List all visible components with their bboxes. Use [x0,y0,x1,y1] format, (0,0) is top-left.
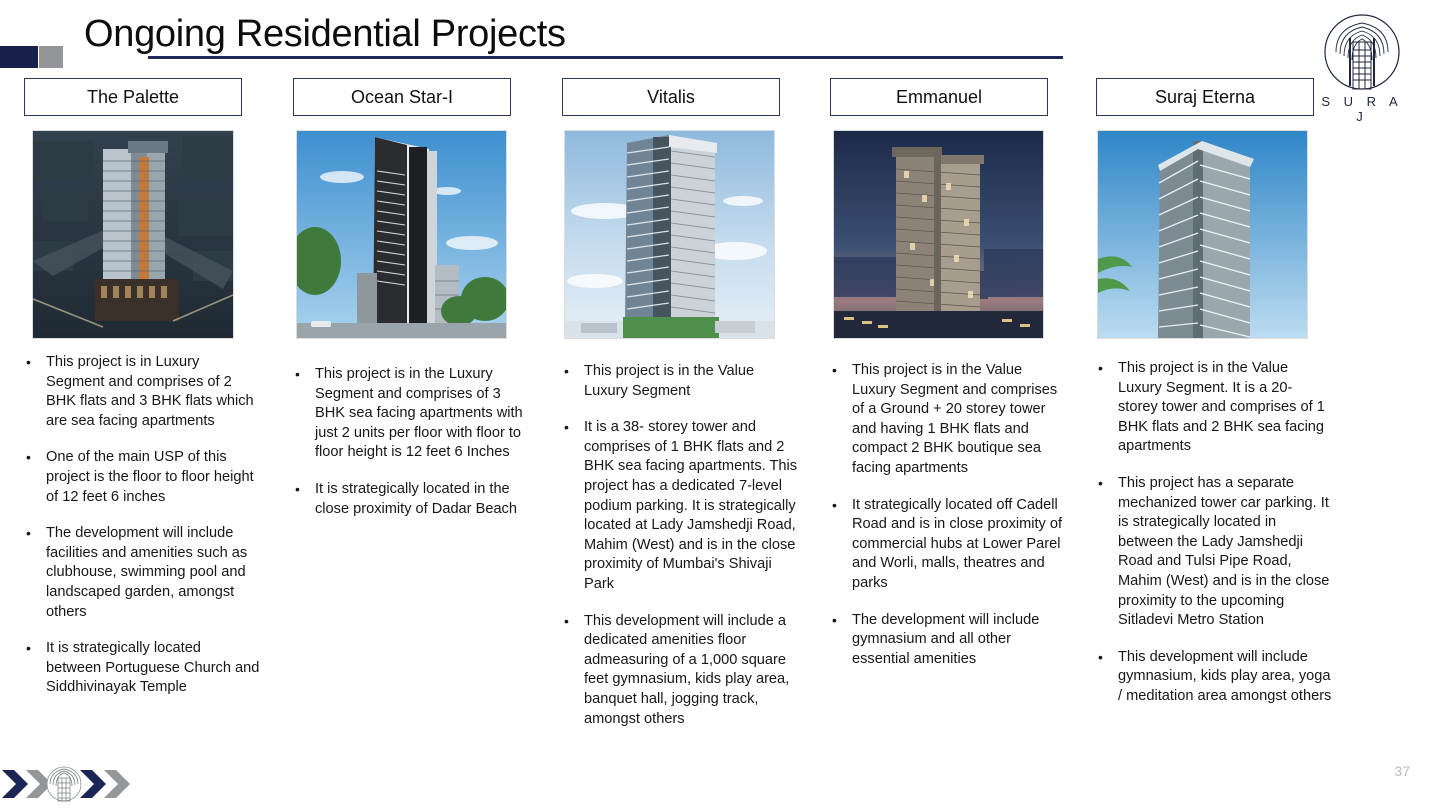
bullet-dot-icon: • [24,639,46,698]
project-header-vitalis[interactable]: Vitalis [562,78,780,116]
project-image-suraj-eterna [1097,130,1308,339]
chevrons-with-emblem-icon [0,762,140,806]
bullet-dot-icon: • [24,448,46,507]
list-item: •This project is in the Value Luxury Seg… [562,362,798,401]
bullet-dot-icon: • [1096,359,1118,457]
project-image-ocean-star-i [296,130,507,339]
project-column-suraj-eterna: Suraj Eterna [1096,78,1314,724]
list-item: •This project is in the Value Luxury Seg… [1096,359,1332,457]
bullet-dot-icon: • [830,611,852,670]
project-column-ocean-star-i: Ocean Star-I [293,78,511,536]
bullet-dot-icon: • [24,353,46,431]
list-item: •The development will include facilities… [24,524,260,622]
project-image-the-palette [32,130,234,339]
title-accent-square-gray [39,46,63,68]
bullet-dot-icon: • [830,496,852,594]
bullet-dot-icon: • [562,612,584,730]
list-item: •It strategically located off Cadell Roa… [830,496,1066,594]
project-bullets-the-palette: •This project is in Luxury Segment and c… [24,353,260,698]
bullet-dot-icon: • [1096,474,1118,631]
list-item: •It is strategically located between Por… [24,639,260,698]
list-item: •The development will include gymnasium … [830,611,1066,670]
suraj-tower-emblem-icon [1322,12,1402,92]
list-item: •One of the main USP of this project is … [24,448,260,507]
project-header-suraj-eterna[interactable]: Suraj Eterna [1096,78,1314,116]
bullet-dot-icon: • [1096,648,1118,707]
project-column-the-palette: The Palette [24,78,242,715]
bullet-dot-icon: • [830,361,852,479]
bullet-dot-icon: • [293,480,315,519]
project-header-the-palette[interactable]: The Palette [24,78,242,116]
list-item: •This project has a separate mechanized … [1096,474,1332,631]
page-title: Ongoing Residential Projects [84,10,566,58]
bullet-dot-icon: • [562,362,584,401]
list-item: •This development will include a dedicat… [562,612,798,730]
project-bullets-ocean-star-i: •This project is in the Luxury Segment a… [293,365,529,519]
project-header-emmanuel[interactable]: Emmanuel [830,78,1048,116]
list-item: •This project is in the Luxury Segment a… [293,365,529,463]
list-item: •This project is in Luxury Segment and c… [24,353,260,431]
brand-wordmark: S U R A J [1314,94,1410,124]
project-image-emmanuel [833,130,1044,339]
project-image-vitalis [564,130,775,339]
project-column-vitalis: Vitalis [562,78,780,746]
project-bullets-emmanuel: •This project is in the Value Luxury Seg… [830,361,1066,669]
project-column-emmanuel: Emmanuel [830,78,1048,686]
project-bullets-suraj-eterna: •This project is in the Value Luxury Seg… [1096,359,1332,707]
page-number: 37 [1394,763,1410,779]
bullet-dot-icon: • [562,418,584,594]
list-item: •It is a 38- storey tower and comprises … [562,418,798,594]
project-header-ocean-star-i[interactable]: Ocean Star-I [293,78,511,116]
title-accent-square-navy [0,46,38,68]
list-item: •This development will include gymnasium… [1096,648,1332,707]
list-item: •This project is in the Value Luxury Seg… [830,361,1066,479]
bullet-dot-icon: • [24,524,46,622]
list-item: •It is strategically located in the clos… [293,480,529,519]
project-bullets-vitalis: •This project is in the Value Luxury Seg… [562,362,798,729]
brand-logo: S U R A J [1314,12,1410,116]
bullet-dot-icon: • [293,365,315,463]
